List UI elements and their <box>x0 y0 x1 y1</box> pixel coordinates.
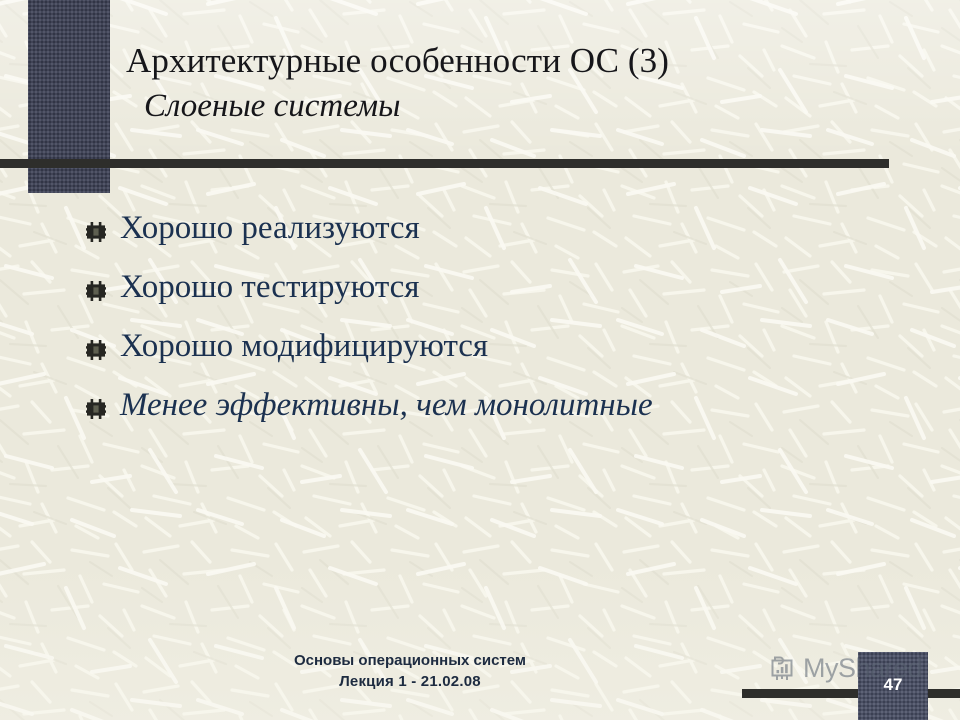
film-frame-bullet-icon <box>86 222 106 242</box>
list-item-label: Хорошо тестируются <box>120 267 419 307</box>
film-frame-bullet-icon <box>86 399 106 419</box>
list-item: Менее эффективны, чем монолитные <box>86 385 906 444</box>
list-item: Хорошо модифицируются <box>86 326 906 385</box>
list-item: Хорошо тестируются <box>86 267 906 326</box>
footer-line-course: Основы операционных систем <box>0 650 820 671</box>
presentation-slide: Архитектурные особенности ОС (3) Слоеные… <box>0 0 960 720</box>
list-item-label: Хорошо реализуются <box>120 208 420 248</box>
header-divider-rule <box>0 159 889 168</box>
footer-line-lecture: Лекция 1 - 21.02.08 <box>0 671 820 692</box>
title-line-primary: Архитектурные особенности ОС (3) <box>126 38 916 83</box>
list-item-label: Хорошо модифицируются <box>120 326 488 366</box>
film-frame-bullet-icon <box>86 281 106 301</box>
slide-title: Архитектурные особенности ОС (3) Слоеные… <box>126 38 916 129</box>
page-number: 47 <box>858 675 928 695</box>
list-item: Хорошо реализуются <box>86 208 906 267</box>
bullet-list: Хорошо реализуются Хорошо тестируются <box>86 208 906 444</box>
film-frame-bullet-icon <box>86 340 106 360</box>
footer-caption: Основы операционных систем Лекция 1 - 21… <box>0 650 820 692</box>
list-item-label: Менее эффективны, чем монолитные <box>120 385 653 425</box>
title-line-subtitle: Слоеные системы <box>126 83 916 129</box>
